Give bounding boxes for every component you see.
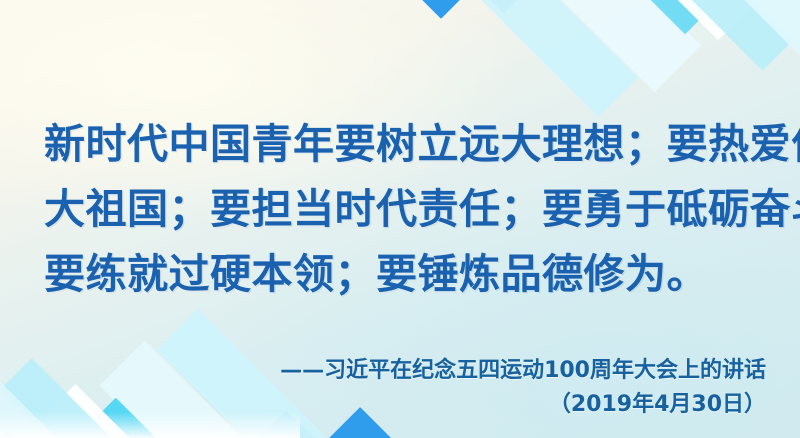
attribution-block: ——习近平在纪念五四运动100周年大会上的讲话 （2019年4月30日） — [280, 354, 766, 422]
quote-poster: 新时代中国青年要树立远大理想；要热爱伟 大祖国；要担当时代责任；要勇于砥砺奋斗；… — [0, 0, 800, 438]
diagonal-stripe — [356, 0, 502, 19]
attribution-date: （2019年4月30日） — [280, 388, 766, 422]
quote-line-2: 大祖国；要担当时代责任；要勇于砥砺奋斗； — [44, 177, 760, 242]
quote-line-3: 要练就过硬本领；要锤炼品德修为。 — [44, 242, 760, 307]
quote-block: 新时代中国青年要树立远大理想；要热爱伟 大祖国；要担当时代责任；要勇于砥砺奋斗；… — [44, 112, 760, 307]
quote-line-1: 新时代中国青年要树立远大理想；要热爱伟 — [44, 112, 760, 177]
attribution-source: ——习近平在纪念五四运动100周年大会上的讲话 — [280, 354, 766, 388]
